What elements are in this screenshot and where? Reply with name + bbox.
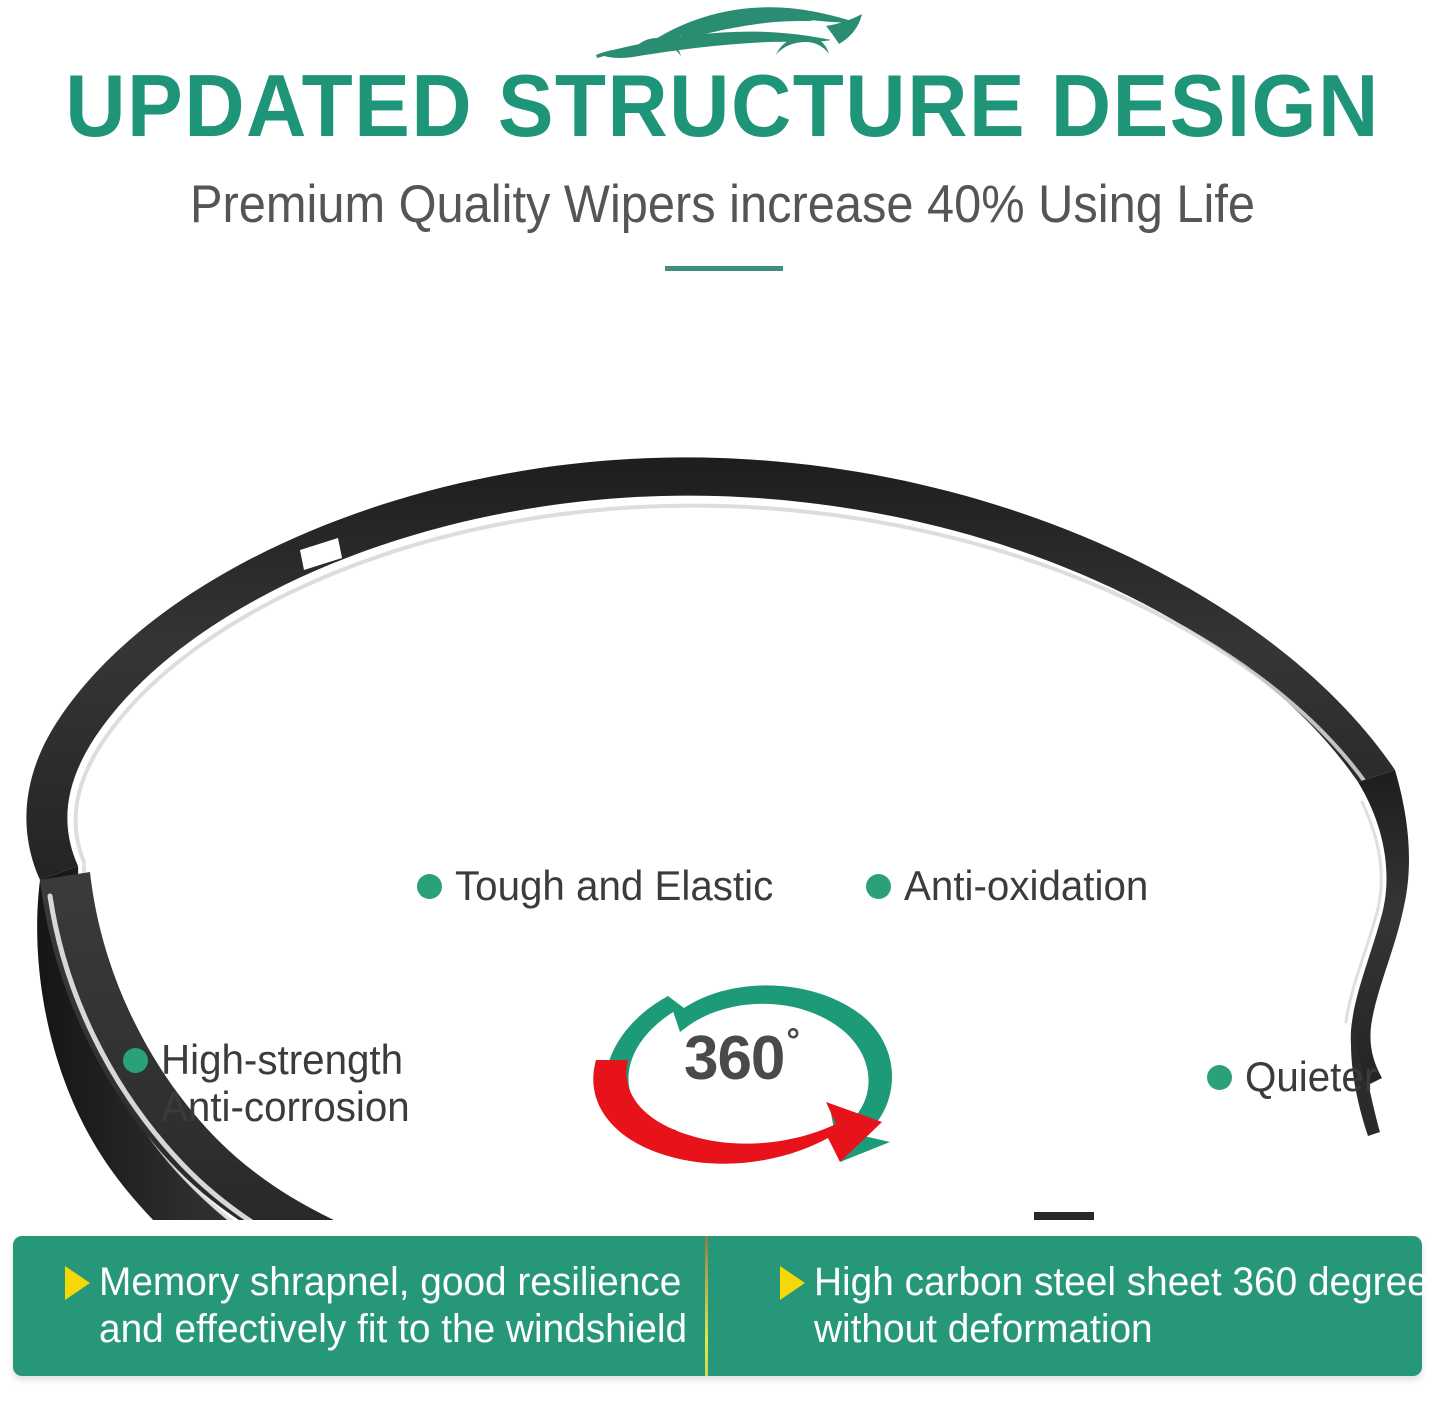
bottom-panel-left: Memory shrapnel, good resilience and eff…	[13, 1236, 705, 1376]
feature-tough-and-elastic: Tough and Elastic	[417, 862, 787, 909]
feature-quieter: Quieter	[1207, 1053, 1383, 1100]
feature-label: Anti-oxidation	[904, 862, 1148, 909]
bottom-right-line1: High carbon steel sheet 360 degrees	[814, 1260, 1445, 1304]
feature-label-line2: Anti-corrosion	[161, 1083, 410, 1130]
feature-high-strength-anti-corrosion: High-strength Anti-corrosion	[123, 1036, 420, 1130]
bullet-dot-icon	[123, 1048, 148, 1073]
title-divider-rule	[665, 266, 783, 271]
triangle-bullet-icon	[65, 1266, 90, 1300]
feature-label: Quieter	[1245, 1053, 1377, 1100]
feature-label-line1: High-strength	[161, 1036, 403, 1083]
bottom-panel-right: High carbon steel sheet 360 degrees with…	[708, 1236, 1445, 1376]
bottom-left-line1: Memory shrapnel, good resilience	[99, 1260, 681, 1304]
bottom-panel-left-text: Memory shrapnel, good resilience and eff…	[99, 1259, 687, 1353]
bullet-dot-icon	[417, 874, 442, 899]
triangle-bullet-icon	[780, 1266, 805, 1300]
feature-label-block: High-strength Anti-corrosion	[161, 1036, 410, 1130]
product-infographic: UPDATED STRUCTURE DESIGN Premium Quality…	[0, 0, 1445, 1421]
badge-360-degrees: 360 °	[572, 956, 912, 1166]
feature-label: Tough and Elastic	[455, 862, 773, 909]
product-image-area: 360 ° Tough and Elastic Anti-oxidation H…	[0, 300, 1445, 1220]
page-title: UPDATED STRUCTURE DESIGN	[36, 62, 1409, 150]
bottom-panel-right-text: High carbon steel sheet 360 degrees with…	[814, 1259, 1445, 1353]
bottom-right-line2: without deformation	[814, 1307, 1153, 1351]
bottom-left-line2: and effectively fit to the windshield	[99, 1307, 687, 1351]
bullet-dot-icon	[1207, 1065, 1232, 1090]
page-subtitle: Premium Quality Wipers increase 40% Usin…	[58, 178, 1387, 231]
feature-anti-oxidation: Anti-oxidation	[866, 862, 1158, 909]
bullet-dot-icon	[866, 874, 891, 899]
car-silhouette-icon	[583, 2, 878, 62]
bottom-feature-bar: Memory shrapnel, good resilience and eff…	[13, 1236, 1422, 1376]
